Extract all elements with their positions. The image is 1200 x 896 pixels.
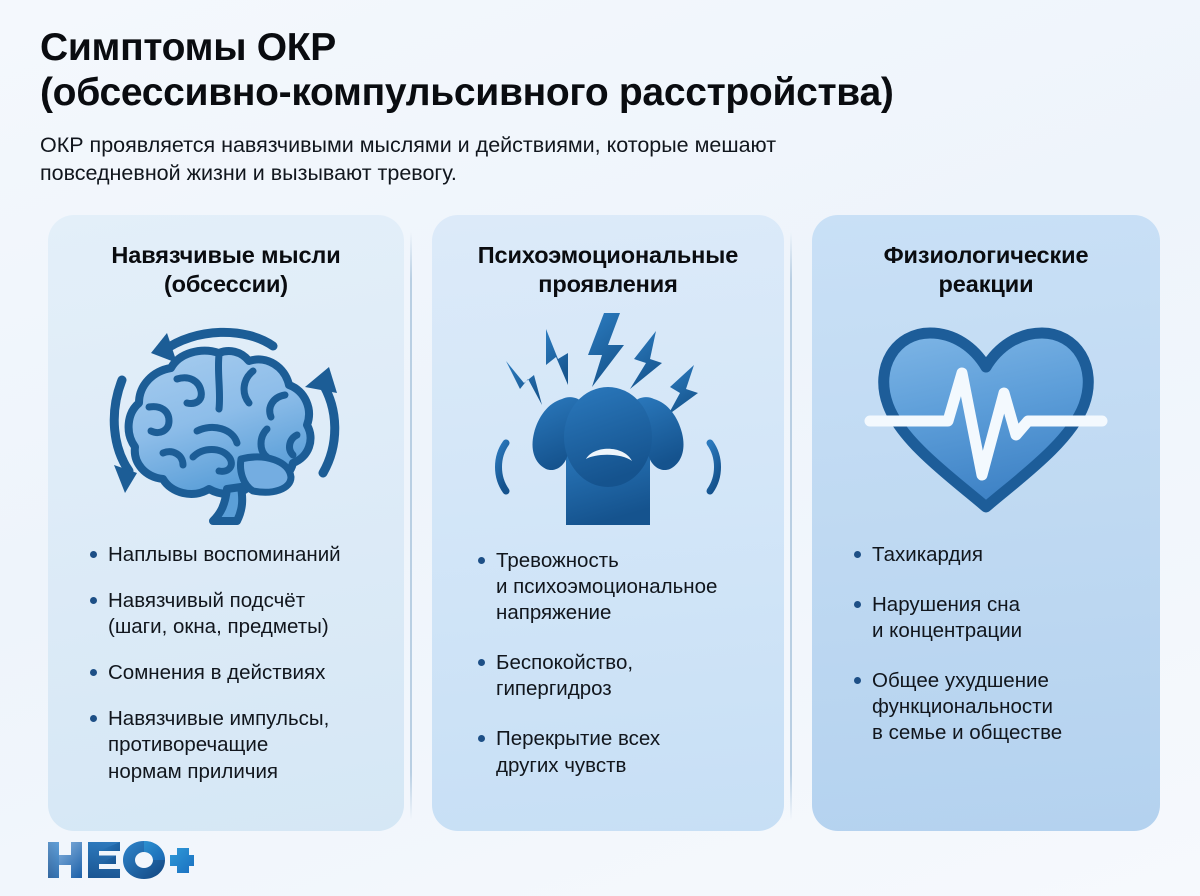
bullet-line: Тахикардия	[872, 543, 983, 566]
list-item: Навязчивый подсчёт (шаги, окна, предметы…	[88, 588, 380, 640]
bullet-line: нормам приличия	[108, 759, 380, 785]
list-item: Общее ухудшение функциональности в семье…	[852, 668, 1136, 746]
card-heading-line-2: (обсессии)	[66, 270, 386, 299]
bullet-line: Перекрытие всех	[496, 727, 660, 750]
list-item: Навязчивые импульсы, противоречащие норм…	[88, 706, 380, 784]
bullet-line: Сомнения в действиях	[108, 661, 325, 684]
page-header: Симптомы ОКР (обсессивно-компульсивного …	[0, 0, 1200, 188]
page-subtitle-line-2: повседневной жизни и вызывают тревогу.	[40, 159, 1085, 188]
card-heading-line-2: реакции	[830, 270, 1142, 299]
stressed-person-icon	[450, 302, 766, 538]
brand-logo	[46, 838, 194, 882]
bullet-line: Навязчивый подсчёт	[108, 589, 305, 612]
bullet-line: Общее ухудшение	[872, 669, 1049, 692]
bullet-list-psychoemotional: Тревожность и психоэмоциональное напряже…	[450, 548, 766, 802]
card-heading-psychoemotional: Психоэмоциональные проявления	[450, 241, 766, 298]
bullet-line: в семье и обществе	[872, 720, 1136, 746]
bullet-line: Навязчивые импульсы,	[108, 707, 329, 730]
heart-pulse-icon	[830, 302, 1142, 538]
bullet-line: Наплывы воспоминаний	[108, 543, 341, 566]
card-heading-line-1: Психоэмоциональные	[478, 242, 738, 268]
bullet-line: противоречащие	[108, 732, 380, 758]
page-title-line-2: (обсессивно-компульсивного расстройства)	[40, 71, 1160, 116]
bullet-line: функциональности	[872, 694, 1136, 720]
list-item: Беспокойство, гипергидроз	[476, 650, 760, 702]
bullet-line: Нарушения сна	[872, 593, 1020, 616]
bullet-line: (шаги, окна, предметы)	[108, 614, 380, 640]
list-item: Тахикардия	[852, 542, 1136, 568]
bullet-list-obsessive-thoughts: Наплывы воспоминаний Навязчивый подсчёт …	[66, 542, 386, 784]
bullet-line: других чувств	[496, 753, 760, 779]
list-item: Перекрытие всех других чувств	[476, 726, 760, 778]
symptom-cards-row: Навязчивые мысли (обсессии)	[48, 215, 1160, 831]
bullet-list-physiological: Тахикардия Нарушения сна и концентрации …	[830, 542, 1142, 770]
card-heading-line-2: проявления	[450, 270, 766, 299]
card-obsessive-thoughts: Навязчивые мысли (обсессии)	[48, 215, 404, 831]
bullet-line: Тревожность	[496, 549, 619, 572]
card-heading-physiological: Физиологические реакции	[830, 241, 1142, 298]
bullet-line: и психоэмоциональное	[496, 574, 760, 600]
card-heading-line-1: Навязчивые мысли	[111, 242, 340, 268]
list-item: Наплывы воспоминаний	[88, 542, 380, 568]
bullet-line: гипергидроз	[496, 676, 760, 702]
page-subtitle-line-1: ОКР проявляется навязчивыми мыслями и де…	[40, 133, 776, 157]
bullet-line: напряжение	[496, 600, 760, 626]
list-item: Сомнения в действиях	[88, 660, 380, 686]
card-psychoemotional: Психоэмоциональные проявления	[432, 215, 784, 831]
list-item: Тревожность и психоэмоциональное напряже…	[476, 548, 760, 626]
bullet-line: и концентрации	[872, 618, 1136, 644]
bullet-line: Беспокойство,	[496, 651, 633, 674]
brain-cycle-icon	[66, 302, 386, 538]
page-title-line-1: Симптомы ОКР	[40, 26, 336, 69]
card-heading-obsessive-thoughts: Навязчивые мысли (обсессии)	[66, 241, 386, 298]
page-title: Симптомы ОКР (обсессивно-компульсивного …	[40, 26, 1160, 116]
card-physiological: Физиологические реакции Та	[812, 215, 1160, 831]
page-subtitle: ОКР проявляется навязчивыми мыслями и де…	[40, 131, 1085, 188]
card-heading-line-1: Физиологические	[884, 242, 1089, 268]
list-item: Нарушения сна и концентрации	[852, 592, 1136, 644]
